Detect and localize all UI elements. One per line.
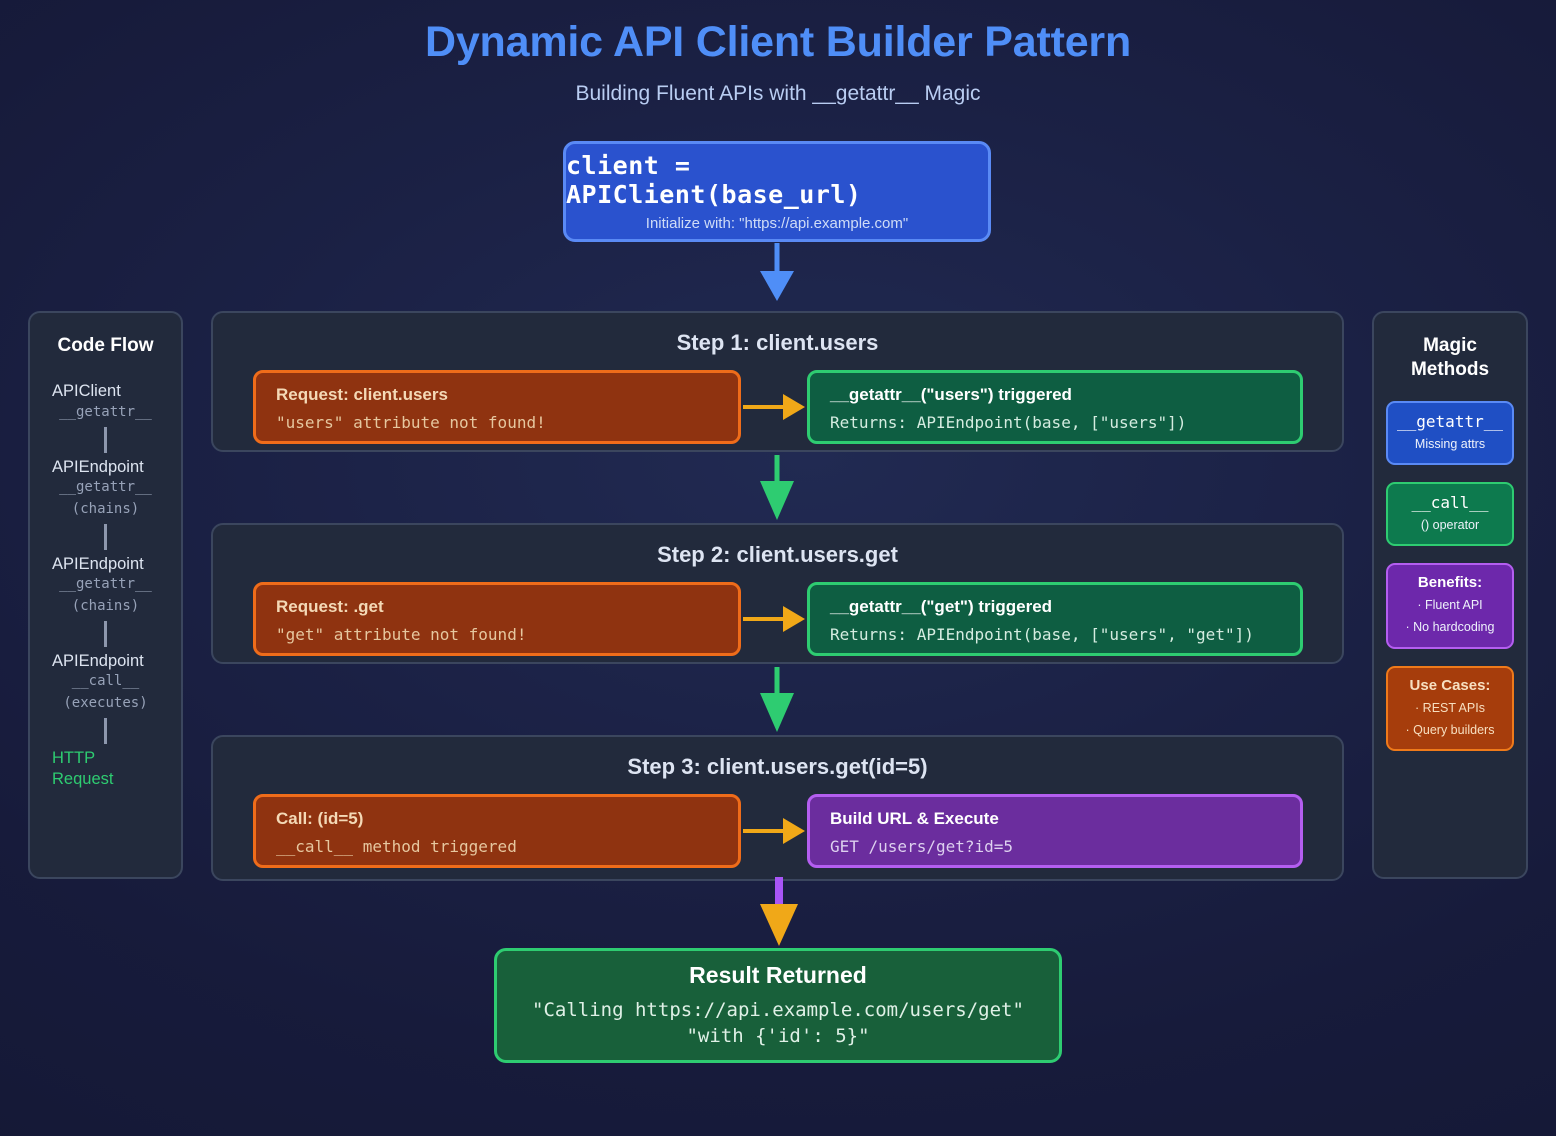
flow-node-name: APIEndpoint — [40, 554, 171, 575]
magic-card-call: __call__ () operator — [1386, 482, 1514, 546]
magic-card-line: · No hardcoding — [1392, 618, 1508, 636]
flow-node-name: APIEndpoint — [40, 651, 171, 672]
step-3-result-box: Build URL & Execute GET /users/get?id=5 — [807, 794, 1303, 868]
step-1-result-body: Returns: APIEndpoint(base, ["users"]) — [830, 410, 1280, 436]
flow-node: APIEndpoint __call__ (executes) — [40, 651, 171, 715]
step-2-request-body: "get" attribute not found! — [276, 622, 718, 648]
step-2-connector-arrow — [743, 600, 805, 638]
magic-card-line: () operator — [1392, 516, 1508, 534]
flow-node-name: APIClient — [40, 381, 171, 402]
magic-card-list: __getattr__ Missing attrs __call__ () op… — [1374, 401, 1526, 751]
flow-node-method: __call__ — [40, 671, 171, 693]
arrow-head — [783, 606, 805, 632]
magic-card-title: __call__ — [1392, 493, 1508, 512]
arrow-stem — [743, 405, 787, 409]
step-3-result-title: Build URL & Execute — [830, 808, 1280, 831]
step-2-result-box: __getattr__("get") triggered Returns: AP… — [807, 582, 1303, 656]
magic-card-line: · REST APIs — [1392, 699, 1508, 717]
result-line-1: "Calling https://api.example.com/users/g… — [532, 998, 1024, 1024]
magic-card-line: Missing attrs — [1392, 435, 1508, 453]
flow-node-note: (chains) — [40, 499, 171, 521]
magic-card-benefits: Benefits: · Fluent API · No hardcoding — [1386, 563, 1514, 648]
step-3-row: Call: (id=5) __call__ method triggered B… — [213, 794, 1342, 868]
step-2-row: Request: .get "get" attribute not found!… — [213, 582, 1342, 656]
flow-node-method: __getattr__ — [40, 574, 171, 596]
magic-methods-panel: Magic Methods __getattr__ Missing attrs … — [1372, 311, 1528, 879]
flow-connector — [104, 524, 107, 550]
flow-node: APIClient __getattr__ — [40, 381, 171, 423]
flow-connector — [104, 427, 107, 453]
flow-node-method: __getattr__ — [40, 402, 171, 424]
arrow-head — [760, 693, 794, 732]
step-3-result-body: GET /users/get?id=5 — [830, 834, 1280, 860]
result-title: Result Returned — [689, 962, 867, 989]
flow-terminal-http: HTTP Request — [40, 748, 171, 791]
step-1-request-title: Request: client.users — [276, 384, 718, 407]
arrow-stem — [743, 617, 787, 621]
step-2-title: Step 2: client.users.get — [213, 542, 1342, 568]
step-3-connector-arrow — [743, 812, 805, 850]
step-3-title: Step 3: client.users.get(id=5) — [213, 754, 1342, 780]
init-subtitle-text: Initialize with: "https://api.example.co… — [646, 215, 908, 232]
flow-connector — [104, 718, 107, 744]
magic-card-line: · Query builders — [1392, 721, 1508, 739]
magic-card-usecases: Use Cases: · REST APIs · Query builders — [1386, 666, 1514, 751]
magic-card-getattr: __getattr__ Missing attrs — [1386, 401, 1514, 465]
step-2-result-title: __getattr__("get") triggered — [830, 596, 1280, 619]
diagram-canvas: Dynamic API Client Builder Pattern Build… — [0, 0, 1556, 1136]
magic-title-line1: Magic — [1374, 334, 1526, 358]
arrow-head — [760, 481, 794, 520]
arrow-stem — [775, 667, 780, 693]
magic-card-title: __getattr__ — [1392, 412, 1508, 431]
flow-node-note: (chains) — [40, 596, 171, 618]
arrow-stem — [775, 243, 780, 271]
code-flow-title: Code Flow — [30, 334, 181, 358]
step-3-request-title: Call: (id=5) — [276, 808, 718, 831]
arrow-init-to-step1 — [760, 243, 794, 301]
step-1-connector-arrow — [743, 388, 805, 426]
step-2-request-box: Request: .get "get" attribute not found! — [253, 582, 741, 656]
arrow-head — [760, 904, 798, 946]
arrow-head — [783, 818, 805, 844]
arrow-stem — [775, 877, 783, 905]
arrow-stem — [743, 829, 787, 833]
flow-terminal-line1: HTTP — [52, 748, 171, 769]
flow-node-name: APIEndpoint — [40, 457, 171, 478]
step-1-result-box: __getattr__("users") triggered Returns: … — [807, 370, 1303, 444]
flow-node-method: __getattr__ — [40, 477, 171, 499]
flow-node: APIEndpoint __getattr__ (chains) — [40, 554, 171, 618]
arrow-step1-to-step2 — [761, 455, 793, 520]
step-3-panel: Step 3: client.users.get(id=5) Call: (id… — [211, 735, 1344, 881]
step-2-result-body: Returns: APIEndpoint(base, ["users", "ge… — [830, 622, 1280, 648]
arrow-step3-to-result — [762, 877, 796, 946]
magic-title-line2: Methods — [1374, 358, 1526, 382]
step-3-request-box: Call: (id=5) __call__ method triggered — [253, 794, 741, 868]
arrow-head — [760, 271, 794, 301]
result-returned-box: Result Returned "Calling https://api.exa… — [494, 948, 1062, 1063]
flow-node-note: (executes) — [40, 693, 171, 715]
arrow-stem — [775, 455, 780, 481]
step-1-result-title: __getattr__("users") triggered — [830, 384, 1280, 407]
page-subtitle: Building Fluent APIs with __getattr__ Ma… — [0, 82, 1556, 106]
init-client-box: client = APIClient(base_url) Initialize … — [563, 141, 991, 242]
code-flow-list: APIClient __getattr__ APIEndpoint __geta… — [30, 381, 181, 790]
step-1-row: Request: client.users "users" attribute … — [213, 370, 1342, 444]
flow-terminal-line2: Request — [52, 769, 171, 790]
flow-node: APIEndpoint __getattr__ (chains) — [40, 457, 171, 521]
step-1-title: Step 1: client.users — [213, 330, 1342, 356]
magic-card-title: Benefits: — [1392, 574, 1508, 592]
code-flow-panel: Code Flow APIClient __getattr__ APIEndpo… — [28, 311, 183, 879]
step-2-panel: Step 2: client.users.get Request: .get "… — [211, 523, 1344, 664]
magic-methods-title: Magic Methods — [1374, 334, 1526, 383]
step-1-request-box: Request: client.users "users" attribute … — [253, 370, 741, 444]
step-2-request-title: Request: .get — [276, 596, 718, 619]
magic-card-title: Use Cases: — [1392, 677, 1508, 695]
init-code-text: client = APIClient(base_url) — [566, 151, 988, 209]
arrow-head — [783, 394, 805, 420]
flow-connector — [104, 621, 107, 647]
page-title: Dynamic API Client Builder Pattern — [0, 18, 1556, 67]
magic-card-line: · Fluent API — [1392, 596, 1508, 614]
step-1-panel: Step 1: client.users Request: client.use… — [211, 311, 1344, 452]
result-line-2: "with {'id': 5}" — [686, 1024, 869, 1050]
step-1-request-body: "users" attribute not found! — [276, 410, 718, 436]
step-3-request-body: __call__ method triggered — [276, 834, 718, 860]
arrow-step2-to-step3 — [761, 667, 793, 732]
